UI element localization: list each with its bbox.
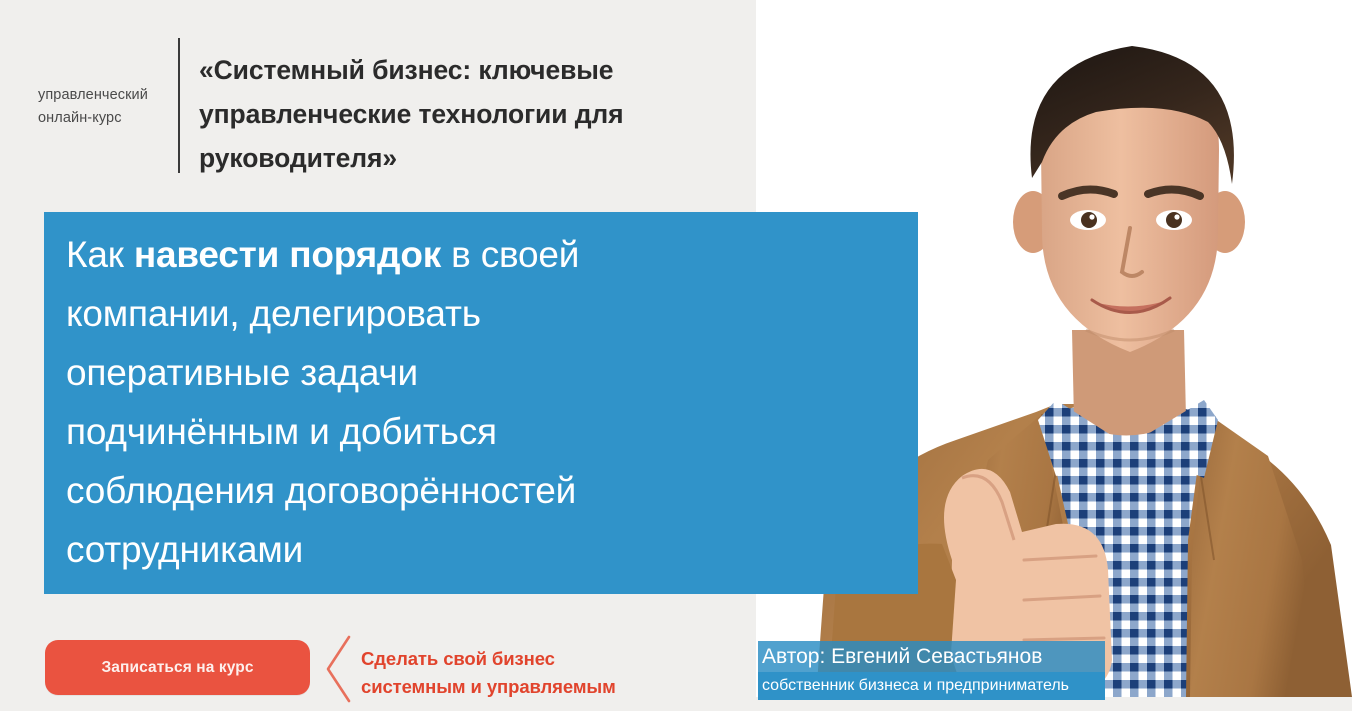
title-line-3: руководителя» [199,136,719,180]
banner-line-2: компании, делегировать [66,284,786,343]
author-role: собственник бизнеса и предприниматель [758,672,1105,700]
author-name: Автор: Евгений Севастьянов [758,641,1105,672]
chevron-left-icon [322,634,352,704]
banner-line-3: оперативные задачи [66,343,786,402]
banner-line-1: Как навести порядок в своей [66,225,786,284]
page-title: «Системный бизнес: ключевые управленческ… [199,48,719,180]
kicker-line-1: управленческий [38,84,168,107]
kicker-line-2: онлайн-курс [38,107,168,130]
cta-note-line-2: системным и управляемым [361,673,671,701]
value-proposition-banner: Как навести порядок в своей компании, де… [44,212,918,594]
banner-line-5: соблюдения договорённостей [66,461,786,520]
cta-note-line-1: Сделать свой бизнес [361,645,671,673]
header-divider [178,38,180,173]
value-proposition-text: Как навести порядок в своей компании, де… [66,225,786,579]
author-caption: Автор: Евгений Севастьянов собственник б… [758,641,1105,700]
cta-note: Сделать свой бизнес системным и управляе… [361,645,671,701]
banner-line-1-suffix: в своей [441,234,579,275]
banner-line-1-prefix: Как [66,234,134,275]
banner-line-6: сотрудниками [66,520,786,579]
title-line-2: управленческие технологии для [199,92,719,136]
title-line-1: «Системный бизнес: ключевые [199,48,719,92]
enroll-button[interactable]: Записаться на курс [45,640,310,695]
banner-line-1-emphasis: навести порядок [134,234,441,275]
banner-line-4: подчинённым и добиться [66,402,786,461]
landing-hero: управленческий онлайн-курс «Системный би… [0,0,1352,711]
course-kicker: управленческий онлайн-курс [38,84,168,130]
